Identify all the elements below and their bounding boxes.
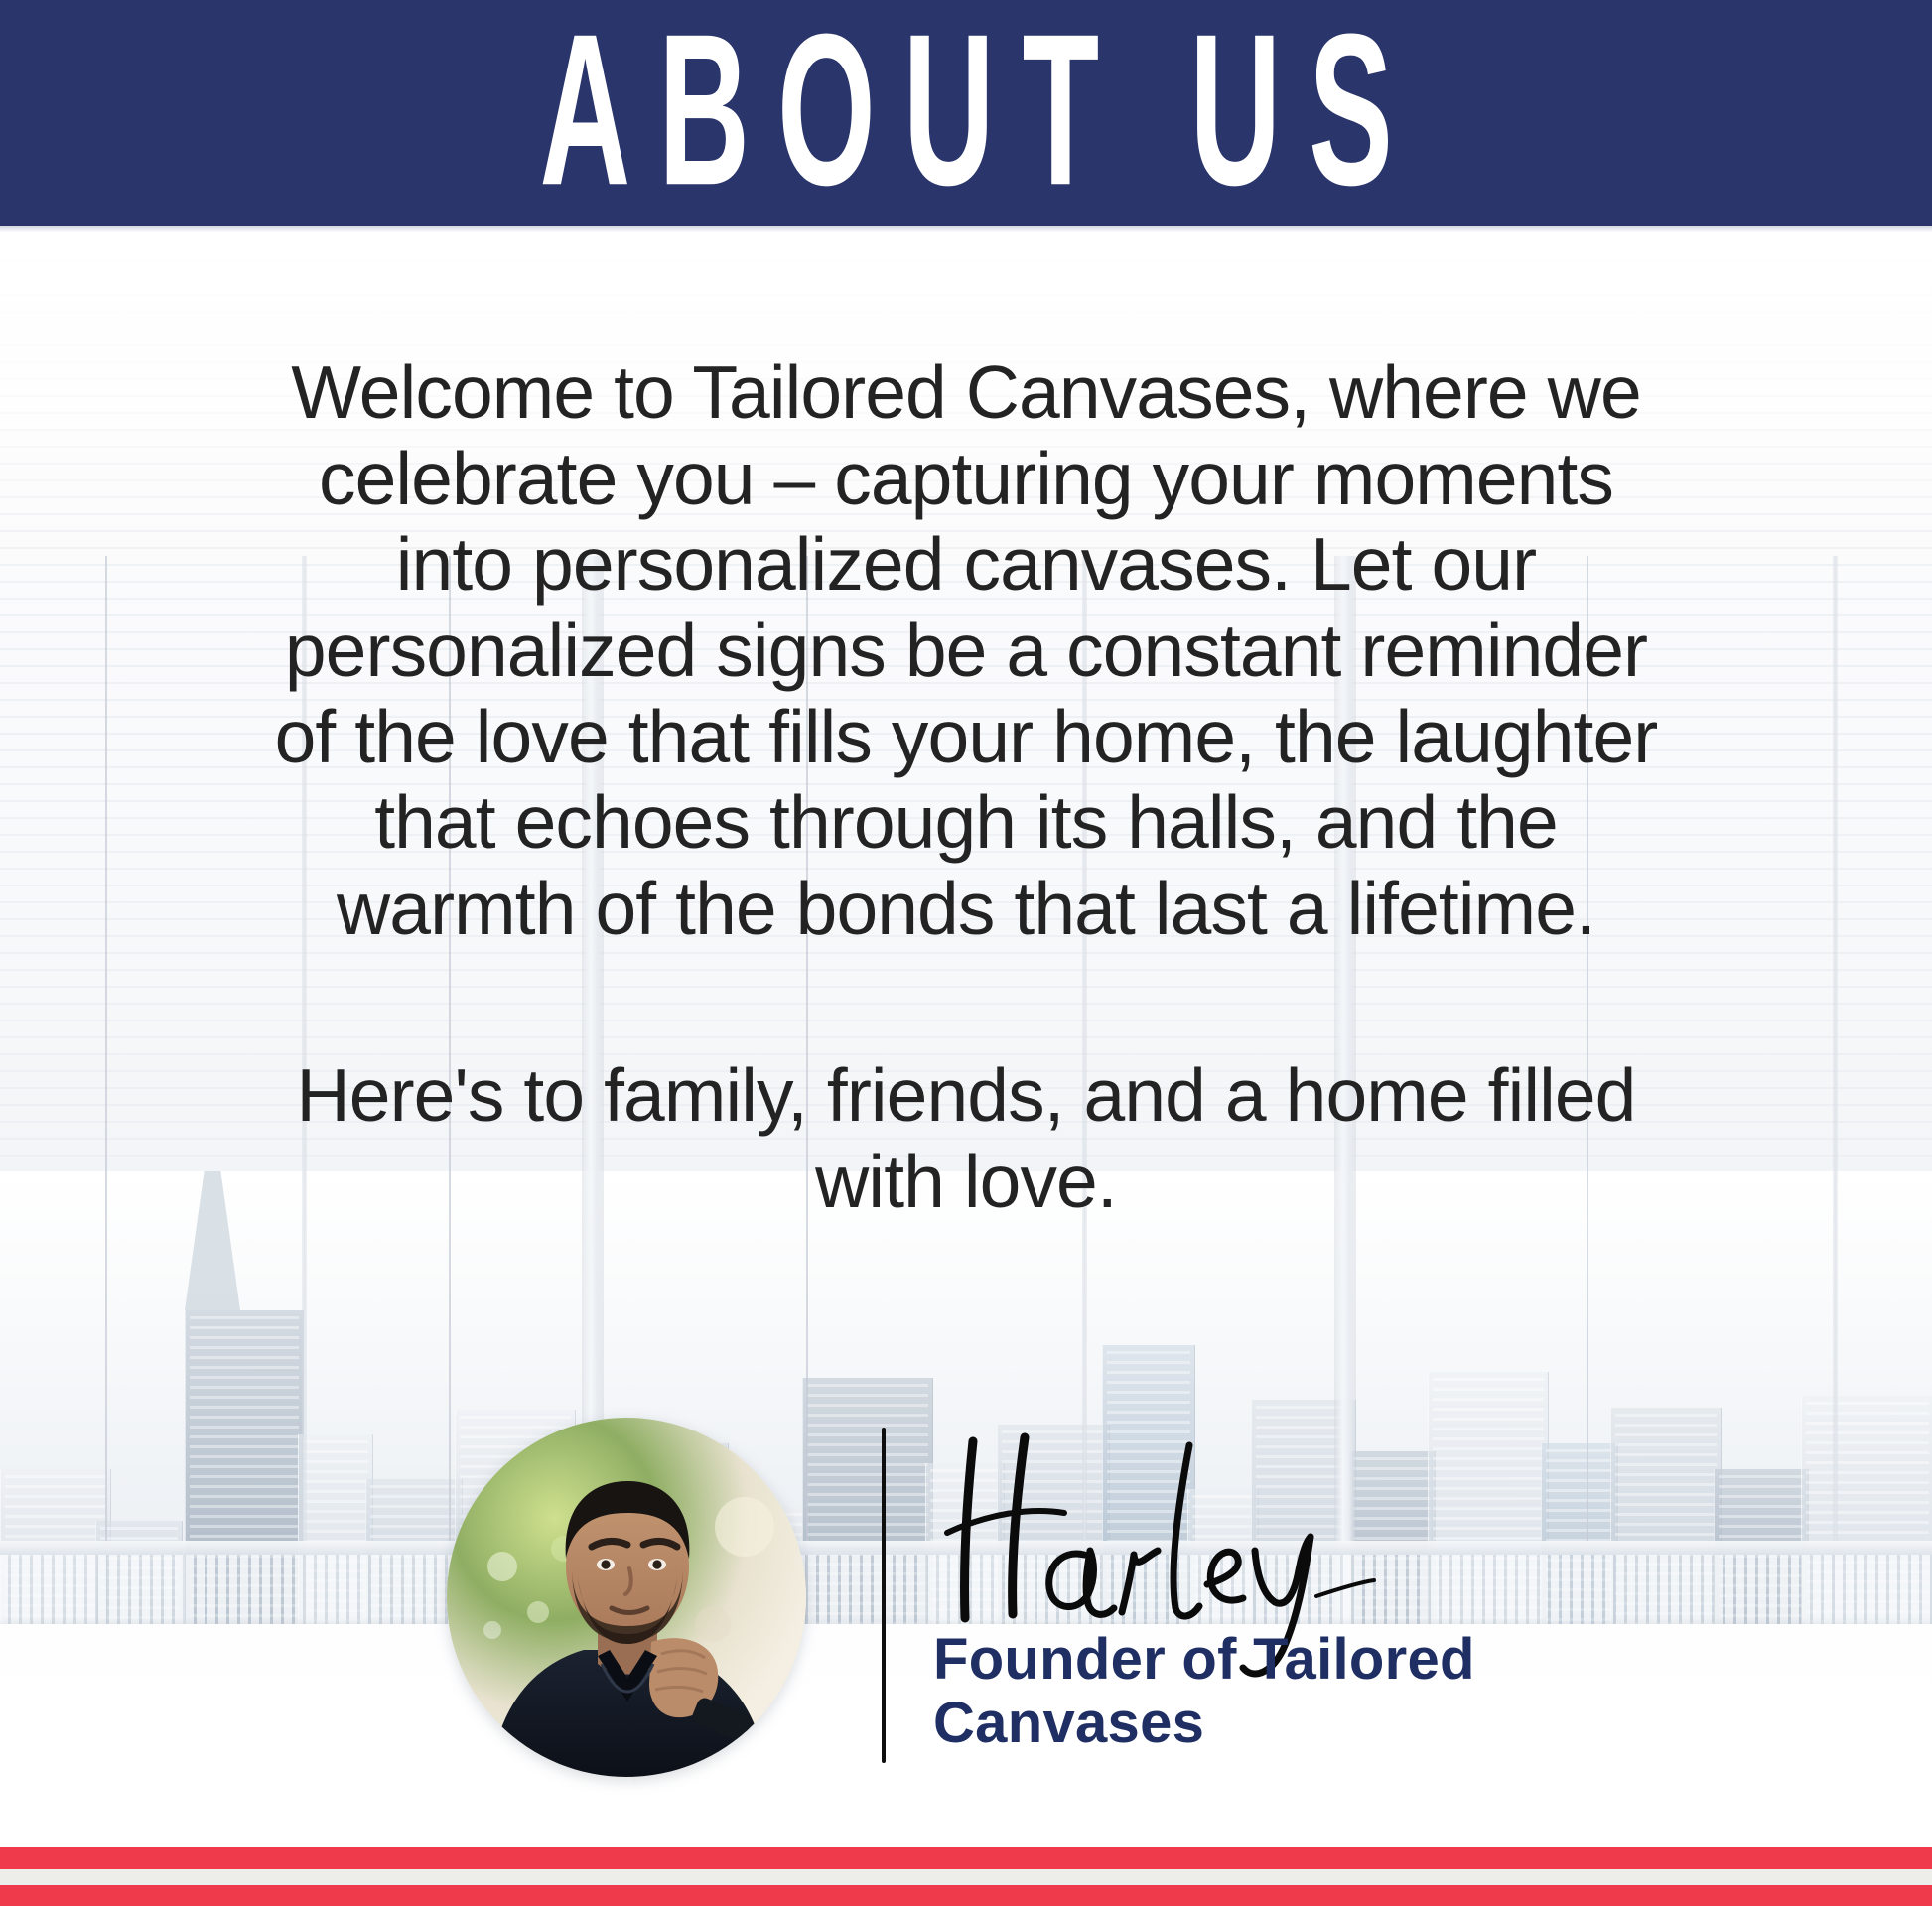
accent-bar-gap <box>0 1869 1932 1885</box>
about-us-poster: ABOUT US Welcome to Tailored Canvases, w… <box>0 0 1932 1906</box>
signature-divider <box>882 1428 886 1763</box>
header-banner: ABOUT US <box>0 0 1932 226</box>
founder-avatar <box>447 1418 806 1777</box>
accent-bar-top <box>0 1847 1932 1869</box>
paragraph-two: Here's to family, friends, and a home fi… <box>256 1052 1676 1224</box>
page-title: ABOUT US <box>511 1 1420 216</box>
paragraph-spacer <box>256 951 1676 1052</box>
founder-title: Founder of Tailored Canvases <box>933 1628 1628 1755</box>
accent-bar-bottom <box>0 1885 1932 1906</box>
about-us-copy: Welcome to Tailored Canvases, where we c… <box>256 349 1676 1225</box>
founder-title-line-2: Canvases <box>933 1692 1628 1755</box>
founder-title-line-1: Founder of Tailored <box>933 1628 1628 1692</box>
transamerica-pyramid-icon <box>185 1171 240 1310</box>
paragraph-one: Welcome to Tailored Canvases, where we c… <box>256 349 1676 951</box>
header-underline <box>0 226 1932 232</box>
